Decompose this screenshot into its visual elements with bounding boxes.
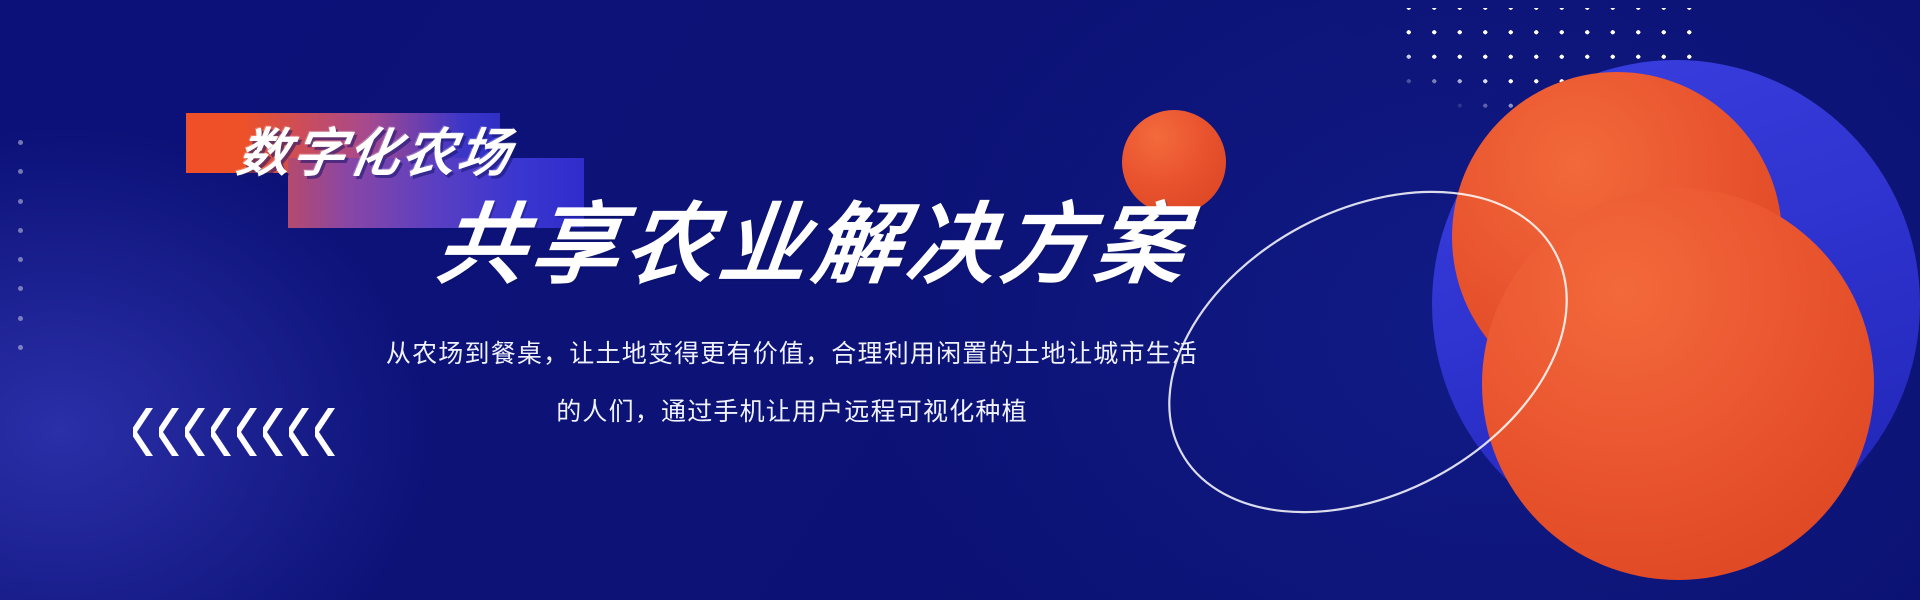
hero-banner: 数字化农场 共享农业解决方案 从农场到餐桌，让土地变得更有价值，合理利用闲置的土… <box>0 0 1920 600</box>
chevron-group <box>133 406 336 458</box>
dot-icon <box>18 345 23 350</box>
chevron-left-icon <box>237 406 258 458</box>
dot-icon <box>18 316 23 321</box>
dot-icon <box>18 169 23 174</box>
tag-label: 数字化农场 <box>234 127 603 182</box>
dot-icon <box>18 199 23 204</box>
chevron-left-icon <box>263 406 284 458</box>
subtitle-paragraph: 从农场到餐桌，让土地变得更有价值，合理利用闲置的土地让城市生活 的人们，通过手机… <box>352 325 1232 441</box>
page-title: 共享农业解决方案 <box>432 198 1203 291</box>
chevron-left-icon <box>315 406 336 458</box>
dot-icon <box>18 286 23 291</box>
chevron-left-icon <box>289 406 310 458</box>
chevron-left-icon <box>133 406 154 458</box>
left-dot-column <box>18 140 24 350</box>
dot-icon <box>18 140 23 145</box>
chevron-left-icon <box>159 406 180 458</box>
subtitle-line-2: 的人们，通过手机让用户远程可视化种植 <box>352 383 1232 441</box>
orange-sphere-large <box>1482 188 1874 580</box>
chevron-left-icon <box>211 406 232 458</box>
chevron-left-icon <box>185 406 206 458</box>
subtitle-line-1: 从农场到餐桌，让土地变得更有价值，合理利用闲置的土地让城市生活 <box>352 325 1232 383</box>
dot-icon <box>18 228 23 233</box>
dot-icon <box>18 257 23 262</box>
